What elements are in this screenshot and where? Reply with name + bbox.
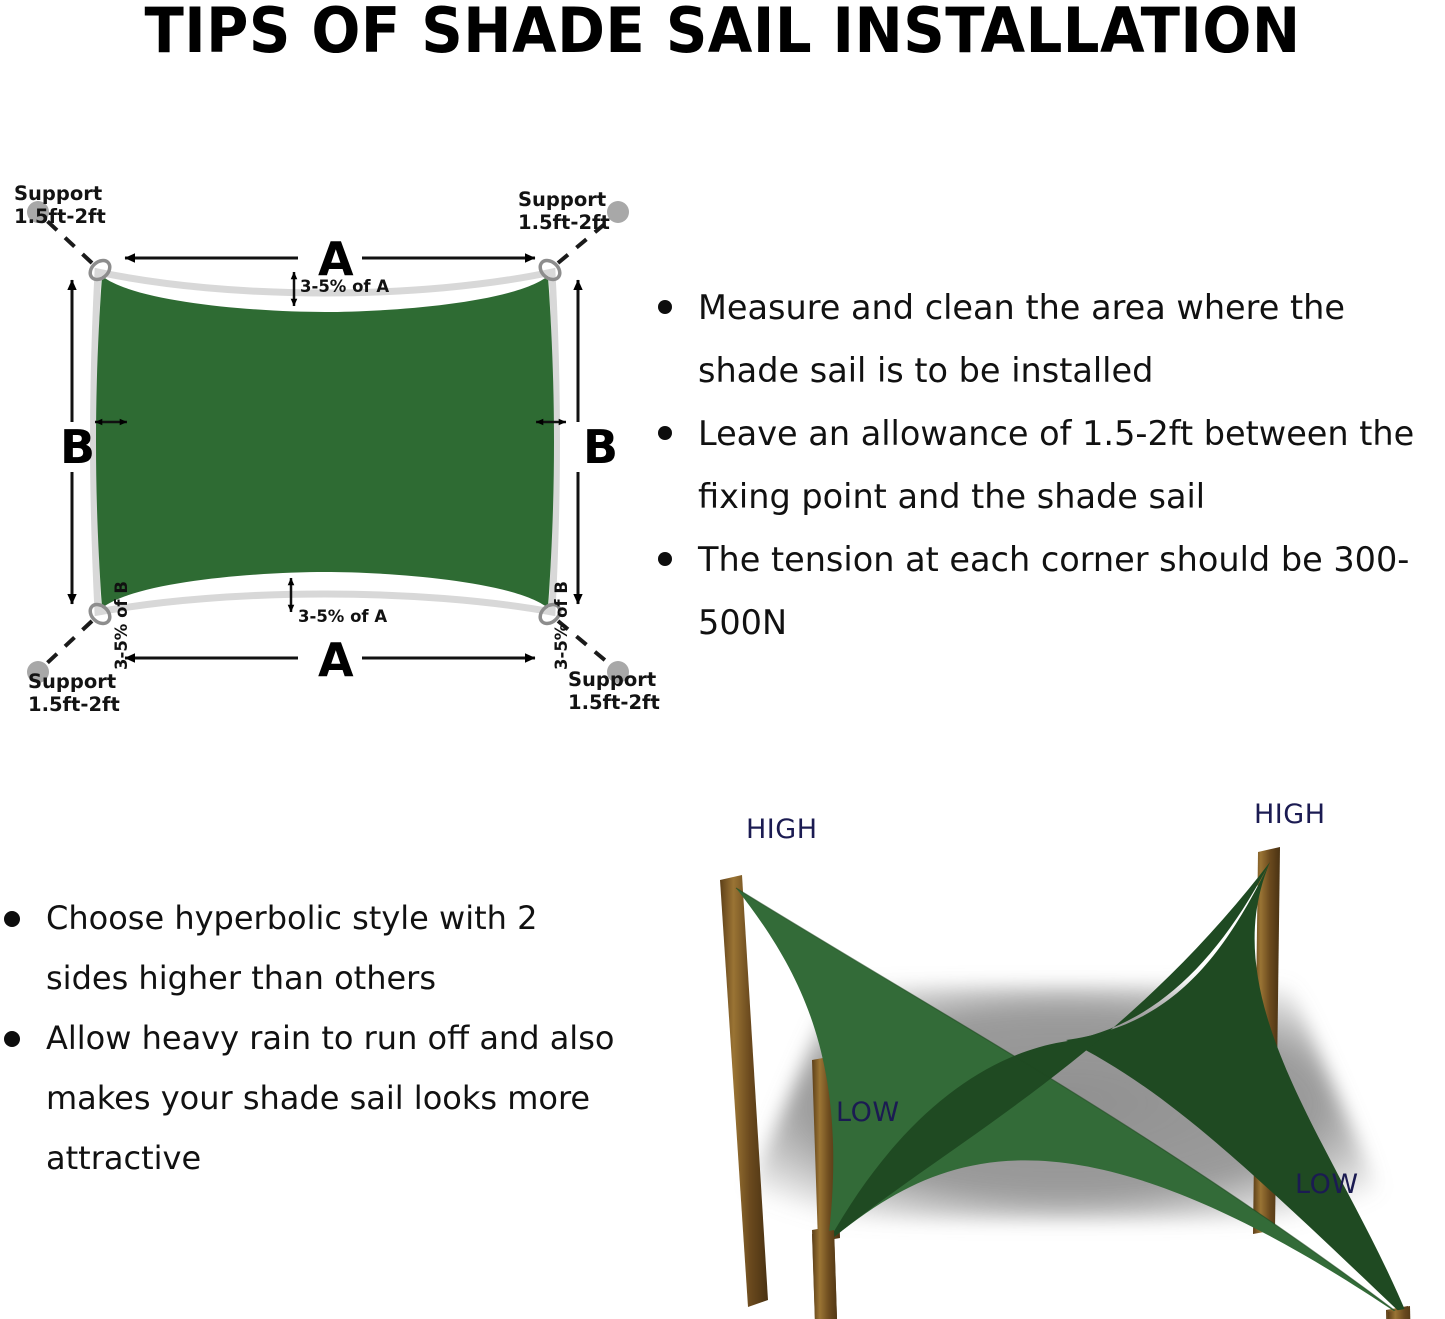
sag-label-right: 3-5% of B [552,581,571,670]
tip-text: Choose hyperbolic style with 2 sides hig… [4,888,629,1008]
installation-tips-list-right: Measure and clean the area where the sha… [658,276,1445,654]
support-label-line2: 1.5ft-2ft [28,693,120,716]
sag-label-left: 3-5% of B [112,581,131,670]
support-label-line1: Support [28,670,116,693]
list-item: Choose hyperbolic style with 2 sides hig… [4,888,629,1008]
dimension-letter-b-left: B [60,424,95,470]
bullet-dot-icon [658,552,672,566]
post-high-left [720,875,768,1307]
support-label-bottom-right: Support 1.5ft-2ft [568,668,660,714]
installation-tips-list-left: Choose hyperbolic style with 2 sides hig… [4,888,629,1188]
support-label-line1: Support [14,182,102,205]
support-label-line2: 1.5ft-2ft [568,691,660,714]
sag-label-top: 3-5% of A [300,277,389,296]
sail-body [96,276,554,608]
bullet-dot-icon [658,426,672,440]
support-label-top-left: Support 1.5ft-2ft [14,182,106,228]
bullet-dot-icon [4,1031,20,1047]
label-high-right: HIGH [1254,799,1326,830]
tip-text: Leave an allowance of 1.5-2ft between th… [658,402,1445,528]
list-item: Leave an allowance of 1.5-2ft between th… [658,402,1445,528]
sag-label-bottom: 3-5% of A [298,607,387,626]
page-title: TIPS OF SHADE SAIL INSTALLATION [51,0,1395,68]
label-high-left: HIGH [746,814,818,845]
bullet-dot-icon [4,911,20,927]
dimension-letter-b-right: B [583,424,618,470]
support-label-line1: Support [518,188,606,211]
support-label-line2: 1.5ft-2ft [518,211,610,234]
list-item: Measure and clean the area where the sha… [658,276,1445,402]
support-label-line1: Support [568,668,656,691]
label-low-right: LOW [1295,1169,1359,1200]
post-low-left-front [812,1230,840,1319]
hyperbolic-sail-svg [650,790,1445,1319]
dimension-letter-a-bottom: A [318,637,354,683]
tip-text: Measure and clean the area where the sha… [658,276,1445,402]
bullet-dot-icon [658,300,672,314]
support-label-top-right: Support 1.5ft-2ft [518,188,610,234]
tip-text: Allow heavy rain to run off and also mak… [4,1008,629,1188]
hyperbolic-sail-diagram: HIGH HIGH LOW LOW [650,790,1445,1319]
label-low-left: LOW [836,1097,900,1128]
rectangular-sail-diagram: Support 1.5ft-2ft Support 1.5ft-2ft Supp… [0,160,660,730]
list-item: Allow heavy rain to run off and also mak… [4,1008,629,1188]
support-label-line2: 1.5ft-2ft [14,205,106,228]
tip-text: The tension at each corner should be 300… [658,528,1445,654]
list-item: The tension at each corner should be 300… [658,528,1445,654]
dimension-letter-a-top: A [318,236,354,282]
support-label-bottom-left: Support 1.5ft-2ft [28,670,120,716]
